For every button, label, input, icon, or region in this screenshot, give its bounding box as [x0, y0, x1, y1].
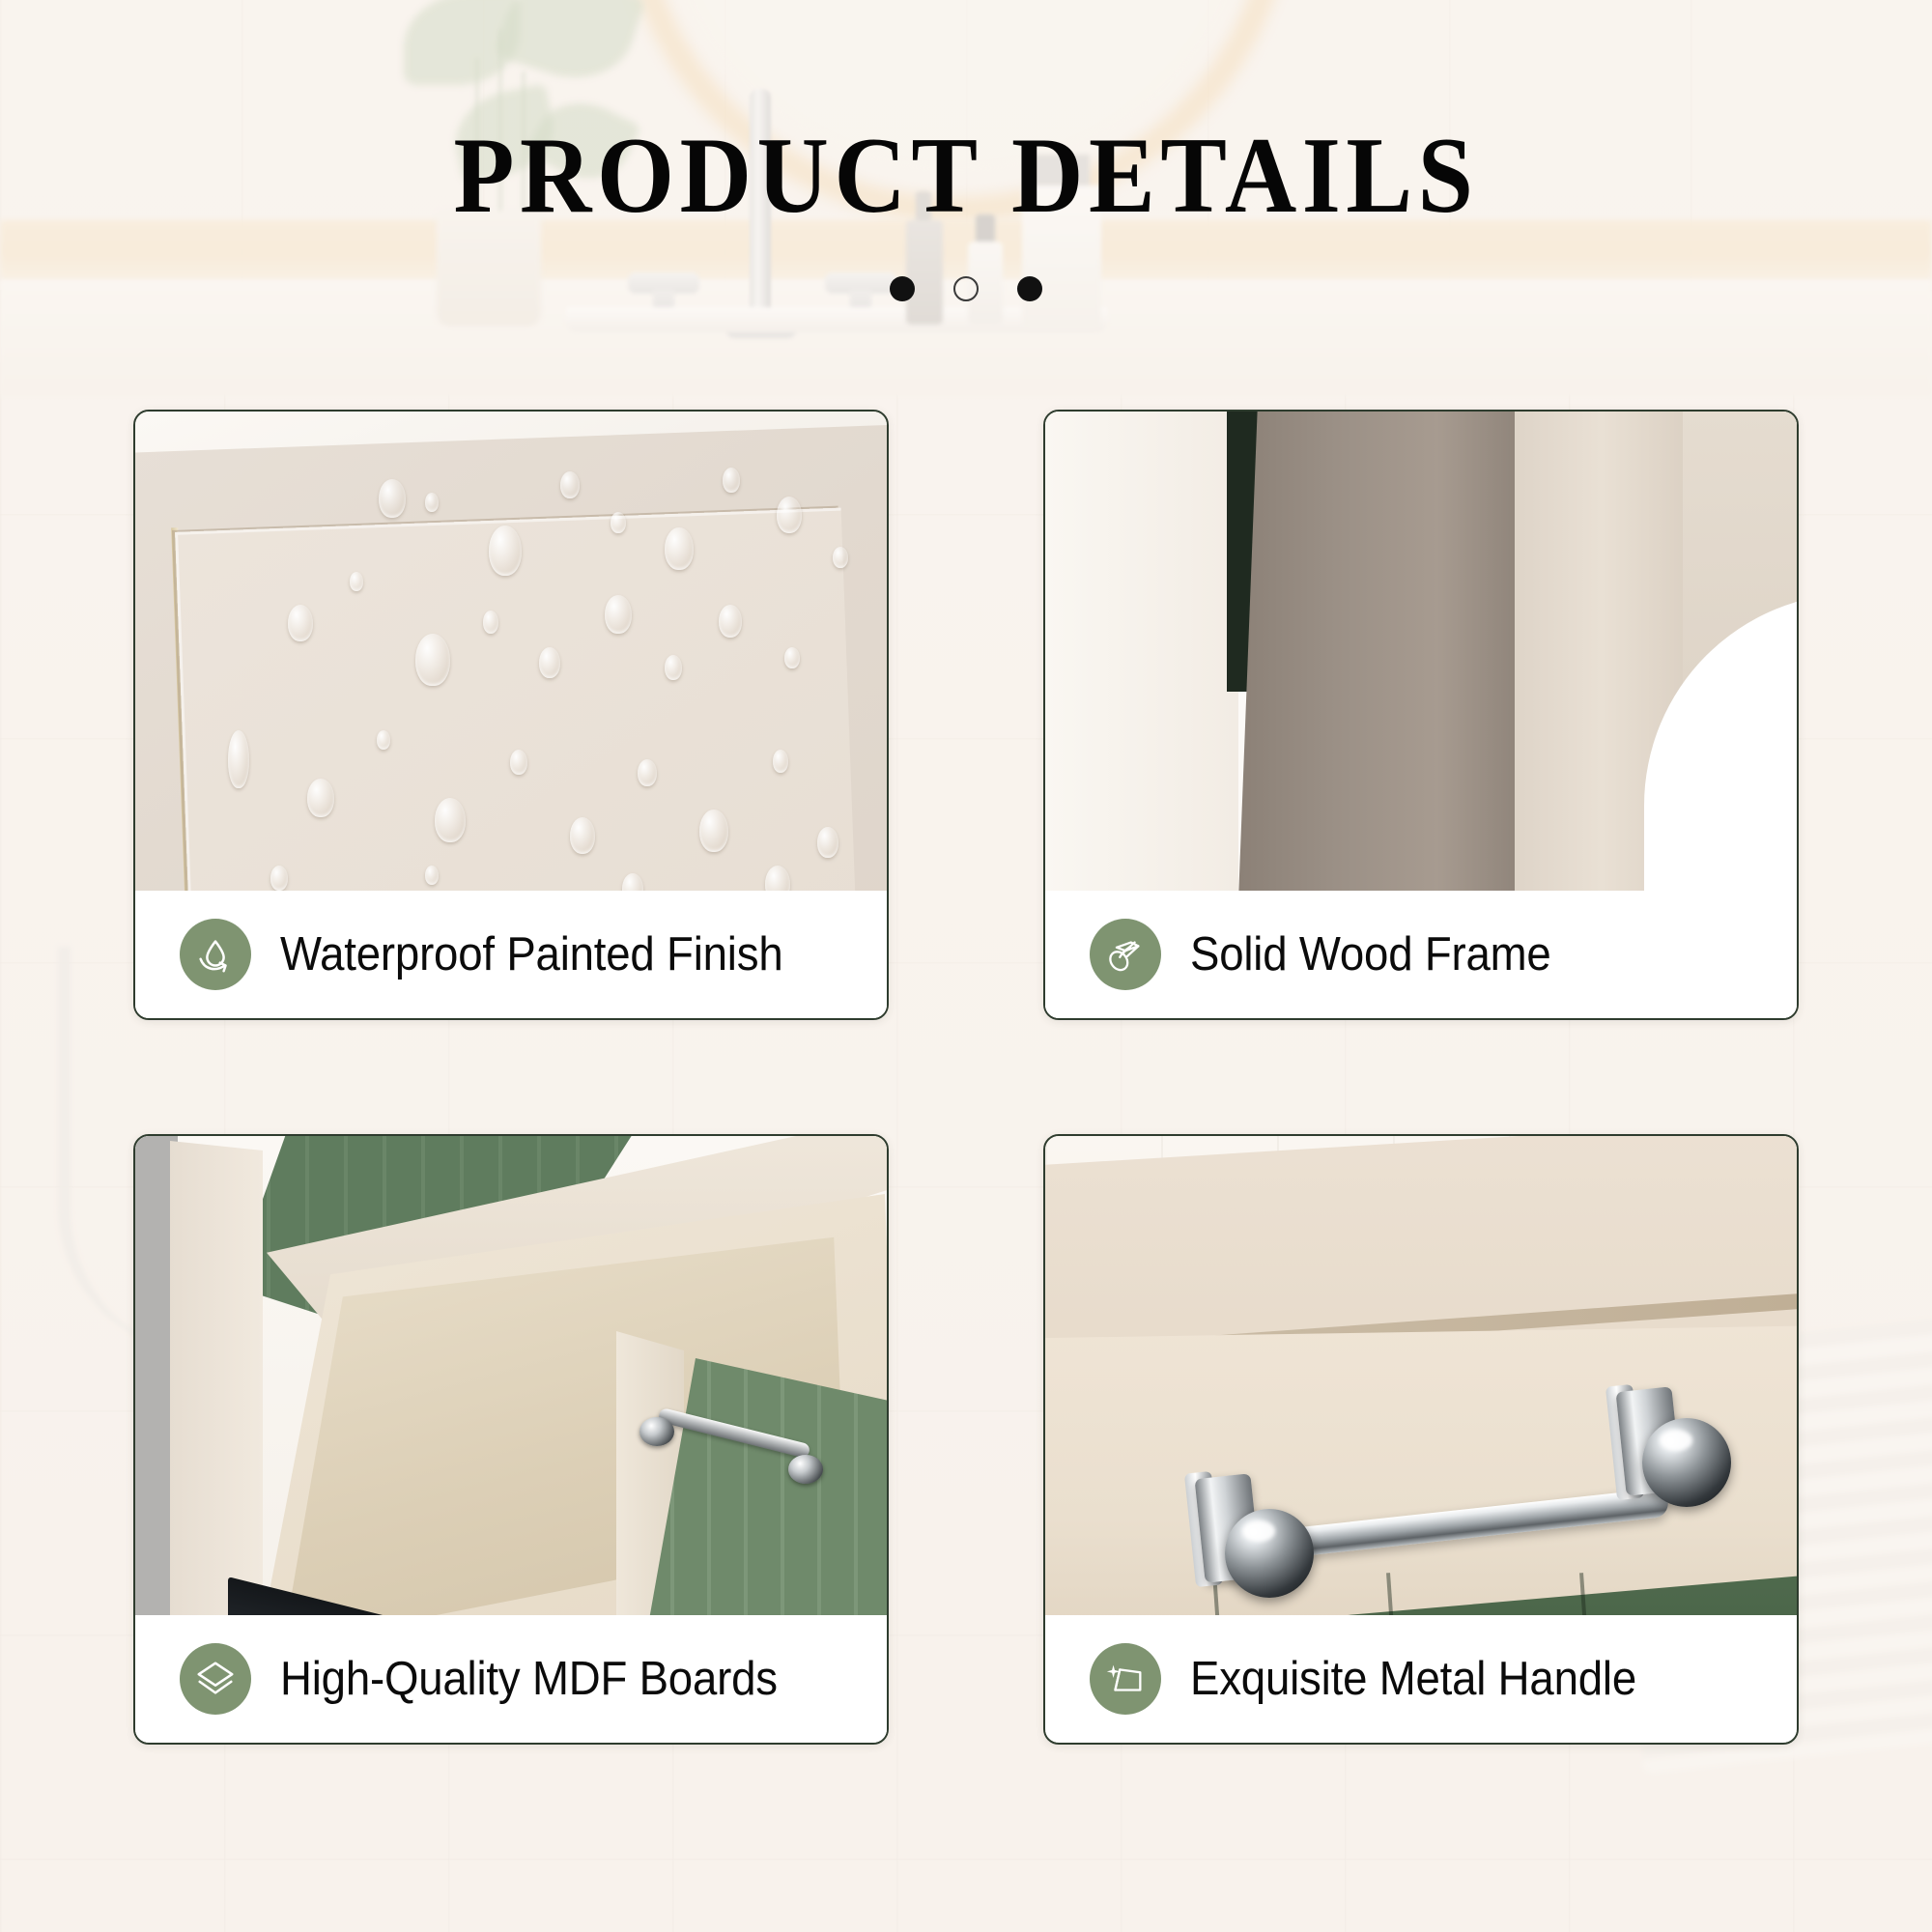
sparkle-panel-icon	[1090, 1643, 1161, 1715]
card-label-text: Waterproof Painted Finish	[280, 927, 783, 981]
carousel-dot-1[interactable]	[890, 276, 915, 301]
wood-log-icon	[1090, 919, 1161, 990]
feature-card-waterproof[interactable]: Waterproof Painted Finish	[133, 410, 889, 1020]
cabinet-side-post	[170, 1141, 263, 1653]
card-label-text: Exquisite Metal Handle	[1190, 1652, 1636, 1706]
card-label-text: High-Quality MDF Boards	[280, 1652, 778, 1706]
product-details-page: PRODUCT DETAILS	[0, 0, 1932, 1932]
handle-end-left	[639, 1417, 674, 1446]
card-label-waterproof: Waterproof Painted Finish	[135, 891, 887, 1018]
carousel-dot-2[interactable]	[953, 276, 979, 301]
handle-ball-left	[1225, 1509, 1314, 1598]
page-title: PRODUCT DETAILS	[77, 114, 1855, 239]
card-label-solid-wood: Solid Wood Frame	[1045, 891, 1797, 1018]
handle-ball-right	[1642, 1418, 1731, 1507]
carousel-dot-3[interactable]	[1017, 276, 1042, 301]
handle-end-right	[788, 1455, 823, 1484]
card-label-metal-handle: Exquisite Metal Handle	[1045, 1615, 1797, 1743]
feature-card-metal-handle[interactable]: Exquisite Metal Handle	[1043, 1134, 1799, 1745]
carousel-dots	[0, 276, 1932, 301]
card-label-mdf: High-Quality MDF Boards	[135, 1615, 887, 1743]
card-label-text: Solid Wood Frame	[1190, 927, 1551, 981]
feature-card-grid: Waterproof Painted Finish	[133, 410, 1799, 1745]
water-drop-icon	[180, 919, 251, 990]
feature-card-mdf[interactable]: High-Quality MDF Boards	[133, 1134, 889, 1745]
layers-stack-icon	[180, 1643, 251, 1715]
feature-card-solid-wood[interactable]: Solid Wood Frame	[1043, 410, 1799, 1020]
